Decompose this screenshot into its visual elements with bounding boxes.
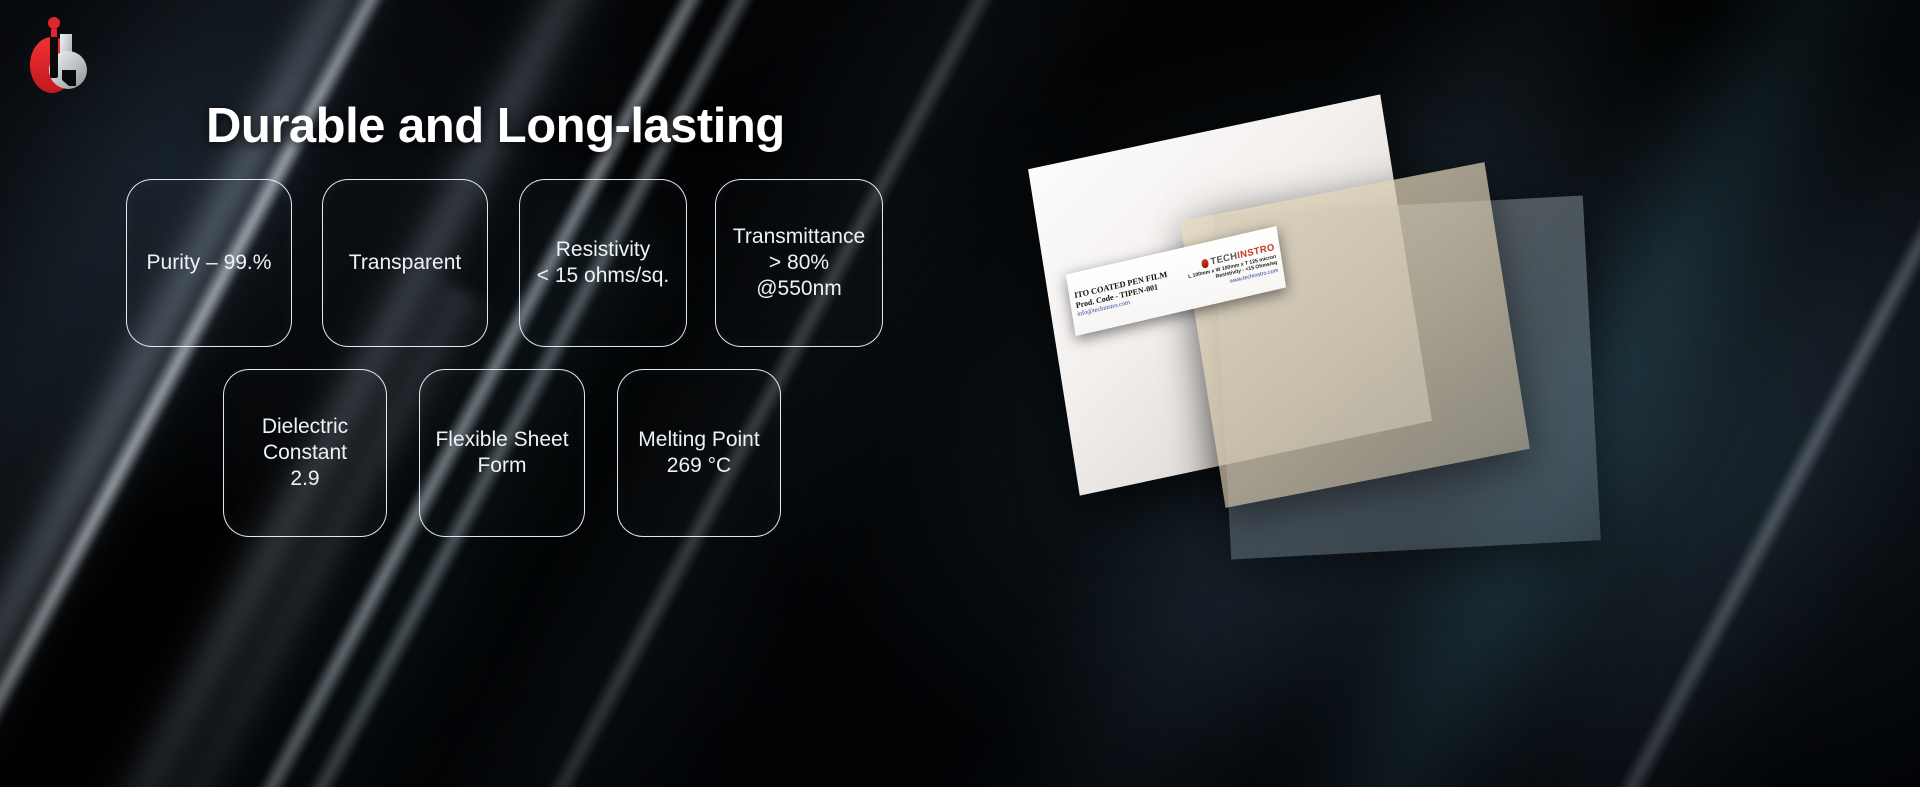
techinstro-i-logo xyxy=(16,10,106,100)
page-title: Durable and Long-lasting xyxy=(206,98,785,154)
feature-card-dielectric-constant[interactable]: Dielectric Constant 2.9 xyxy=(223,369,387,537)
feature-card-transmittance[interactable]: Transmittance > 80% @550nm xyxy=(715,179,883,347)
feature-card-flexible-sheet-form-label: Flexible Sheet Form xyxy=(435,427,568,479)
product-sheet-amber-film xyxy=(1180,162,1530,508)
feature-card-transmittance-label: Transmittance > 80% @550nm xyxy=(733,224,865,301)
feature-card-dielectric-constant-label: Dielectric Constant 2.9 xyxy=(262,414,348,491)
product-photo: ITO COATED PEN FILM Prod. Code - TIPEN-0… xyxy=(900,0,1920,787)
feature-card-transparent-label: Transparent xyxy=(349,250,461,276)
flame-icon xyxy=(1201,258,1209,268)
feature-card-melting-point[interactable]: Melting Point 269 °C xyxy=(617,369,781,537)
feature-card-purity-label: Purity – 99.% xyxy=(147,250,272,276)
feature-card-flexible-sheet-form[interactable]: Flexible Sheet Form xyxy=(419,369,585,537)
feature-card-resistivity[interactable]: Resistivity < 15 ohms/sq. xyxy=(519,179,687,347)
slide-canvas: Durable and Long-lasting Purity – 99.% T… xyxy=(0,0,1920,787)
feature-card-melting-point-label: Melting Point 269 °C xyxy=(638,427,759,479)
feature-card-resistivity-label: Resistivity < 15 ohms/sq. xyxy=(537,237,670,289)
feature-card-purity[interactable]: Purity – 99.% xyxy=(126,179,292,347)
feature-card-transparent[interactable]: Transparent xyxy=(322,179,488,347)
